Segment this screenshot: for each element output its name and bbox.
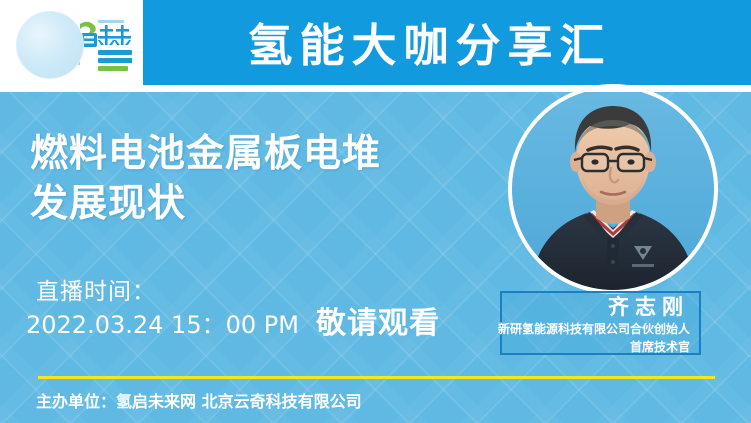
organizer-text: 主办单位：氢启未来网 北京云奇科技有限公司 xyxy=(36,388,362,412)
speaker-role: 首席技术官 xyxy=(630,338,690,355)
speaker-info-box: 齐志刚 新研氢能源科技有限公司合伙创始人 首席技术官 xyxy=(500,291,701,355)
banner-title: 氢能大咖分享汇 xyxy=(196,6,656,76)
avatar xyxy=(508,84,718,294)
live-time-value: 2022.03.24 15：00 PM xyxy=(26,305,299,340)
live-time-label: 直播时间： xyxy=(36,272,156,306)
portrait-illustration xyxy=(512,88,714,290)
brand-logo-block xyxy=(0,0,143,89)
page-title-line-2: 发展现状 xyxy=(30,178,490,228)
speaker-organization: 新研氢能源科技有限公司合伙创始人 xyxy=(498,320,690,337)
speaker-name: 齐志刚 xyxy=(602,291,689,321)
brand-logo-icon xyxy=(12,7,132,81)
webinar-poster: 氢能大咖分享汇 燃料电池金属板电堆 发展现状 直播时间： 2022.03.24 … xyxy=(0,0,751,423)
page-title: 燃料电池金属板电堆 发展现状 xyxy=(30,128,490,228)
watch-cta[interactable]: 敬请观看 xyxy=(316,298,440,342)
speaker-portrait xyxy=(512,88,714,290)
page-title-line-1: 燃料电池金属板电堆 xyxy=(30,128,490,178)
logo-circle-backdrop xyxy=(16,11,84,79)
footer-divider xyxy=(38,376,715,379)
